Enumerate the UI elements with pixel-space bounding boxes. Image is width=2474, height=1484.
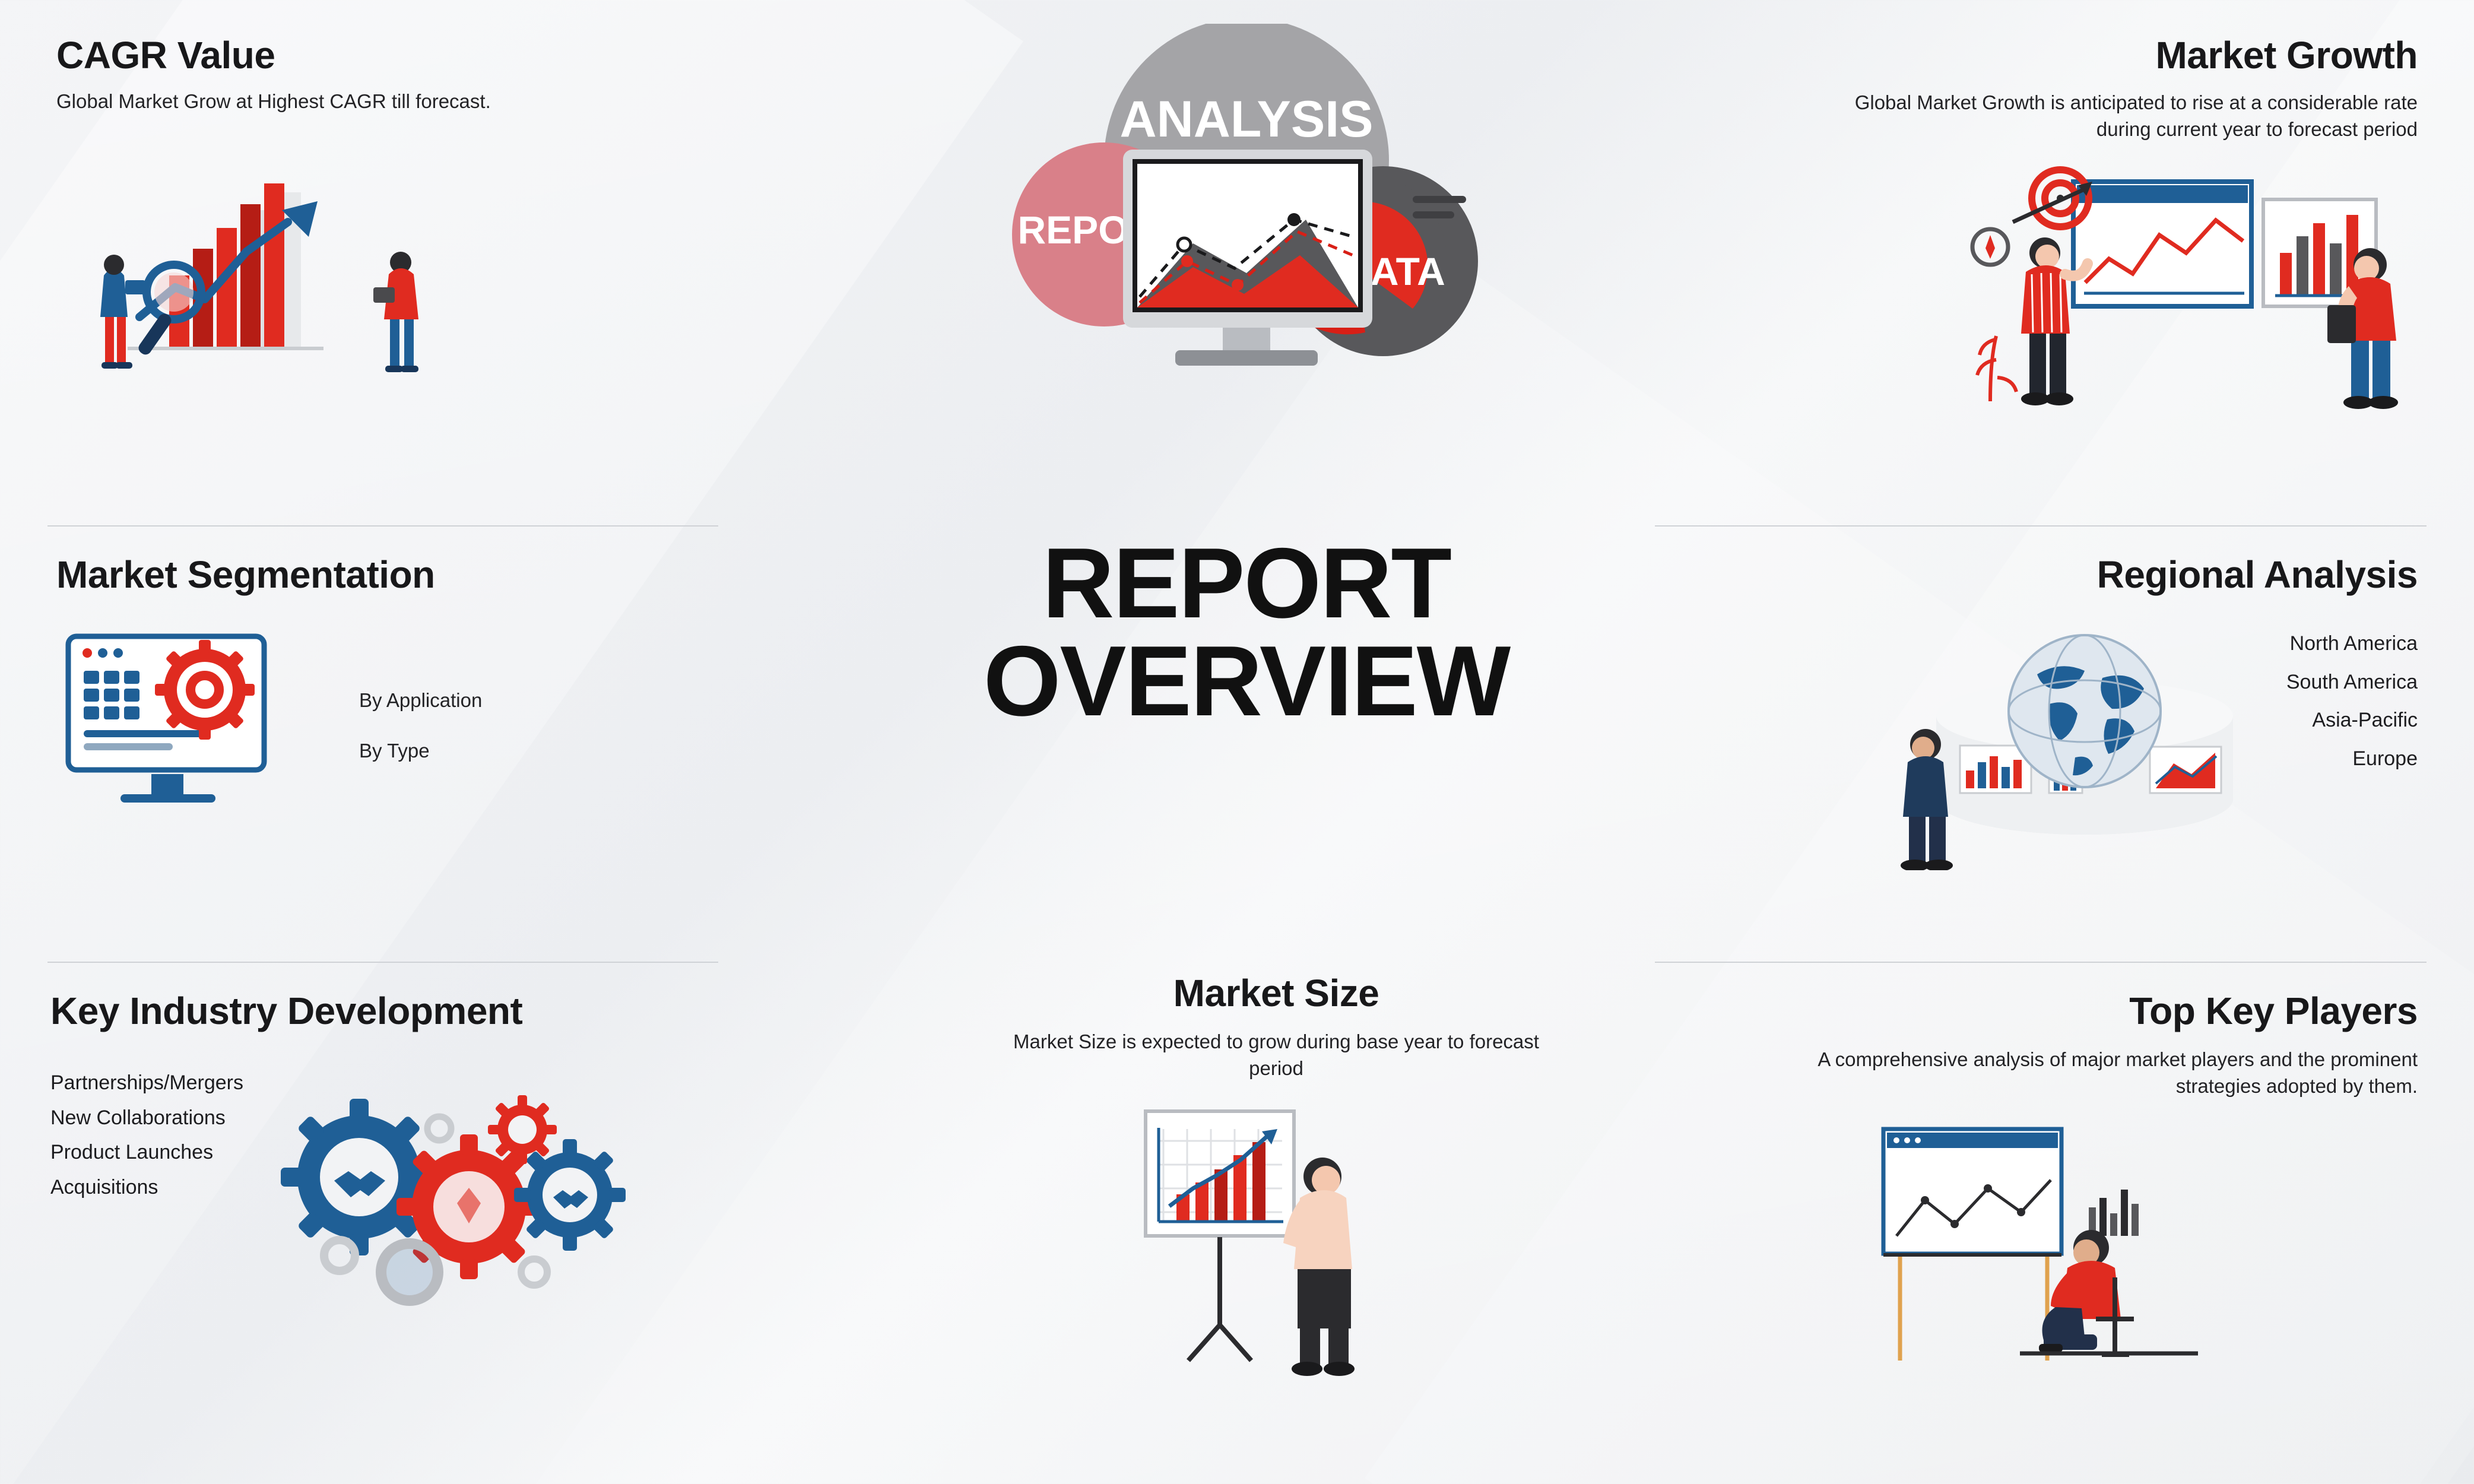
market-size-description: Market Size is expected to grow during b… bbox=[1009, 1029, 1543, 1082]
gears-handshake-icon bbox=[261, 1058, 677, 1308]
cagr-value-block: CAGR Value Global Market Grow at Highest… bbox=[56, 36, 781, 388]
segmentation-item-1: By Type bbox=[359, 735, 482, 766]
key-industry-item-0: Partnerships/Mergers bbox=[50, 1066, 243, 1100]
market-size-block: Market Size Market Size is expected to g… bbox=[1009, 974, 1543, 1378]
regional-item-1: South America bbox=[2286, 663, 2418, 702]
cagr-title: CAGR Value bbox=[56, 36, 781, 75]
segmentation-title: Market Segmentation bbox=[56, 555, 781, 595]
players-title: Top Key Players bbox=[1682, 991, 2418, 1031]
globe-dashboard-icon bbox=[1871, 621, 2263, 870]
divider-left-1 bbox=[47, 525, 718, 527]
top-key-players-block: Top Key Players A comprehensive analysis… bbox=[1682, 991, 2418, 1372]
market-growth-title: Market Growth bbox=[1682, 36, 2418, 75]
market-segmentation-block: Market Segmentation bbox=[56, 555, 781, 820]
infographic-canvas: CAGR Value Global Market Grow at Highest… bbox=[0, 0, 2474, 1484]
key-industry-item-3: Acquisitions bbox=[50, 1170, 243, 1204]
key-industry-title: Key Industry Development bbox=[50, 991, 834, 1031]
regional-title: Regional Analysis bbox=[1682, 555, 2418, 595]
monitor-gear-icon bbox=[56, 624, 312, 820]
flipchart-growth-icon bbox=[1009, 1105, 1543, 1378]
bubble-label-analysis: ANALYSIS bbox=[1120, 91, 1374, 148]
presentation-target-icon bbox=[1682, 164, 2418, 425]
market-growth-block: Market Growth Global Market Growth is an… bbox=[1682, 36, 2418, 425]
key-industry-item-2: Product Launches bbox=[50, 1135, 243, 1169]
regional-analysis-block: Regional Analysis bbox=[1682, 555, 2418, 870]
regional-item-2: Asia-Pacific bbox=[2286, 701, 2418, 740]
monitor-analysis-chart-icon: ANALYSIS REPORT DATA bbox=[914, 24, 1579, 558]
market-size-title: Market Size bbox=[1009, 974, 1543, 1013]
page-title-line2: OVERVIEW bbox=[878, 632, 1615, 730]
bar-chart-growth-arrow-icon bbox=[68, 139, 781, 388]
segmentation-item-0: By Application bbox=[359, 685, 482, 715]
key-industry-item-1: New Collaborations bbox=[50, 1101, 243, 1135]
players-description: A comprehensive analysis of major market… bbox=[1729, 1047, 2418, 1099]
divider-left-2 bbox=[47, 962, 718, 963]
laptop-analyst-icon bbox=[1682, 1123, 2418, 1372]
market-growth-description: Global Market Growth is anticipated to r… bbox=[1824, 90, 2418, 142]
cagr-description: Global Market Grow at Highest CAGR till … bbox=[56, 88, 781, 115]
divider-right-2 bbox=[1655, 962, 2427, 963]
segmentation-items: By Application By Type bbox=[359, 679, 482, 766]
center-block: ANALYSIS REPORT DATA REPORT O bbox=[878, 24, 1615, 730]
regional-item-3: Europe bbox=[2286, 740, 2418, 778]
key-industry-development-block: Key Industry Development Partnerships/Me… bbox=[50, 991, 834, 1308]
regional-item-0: North America bbox=[2286, 624, 2418, 663]
key-industry-items: Partnerships/Mergers New Collaborations … bbox=[50, 1058, 243, 1204]
regional-items: North America South America Asia-Pacific… bbox=[2286, 621, 2418, 778]
divider-right-1 bbox=[1655, 525, 2427, 527]
